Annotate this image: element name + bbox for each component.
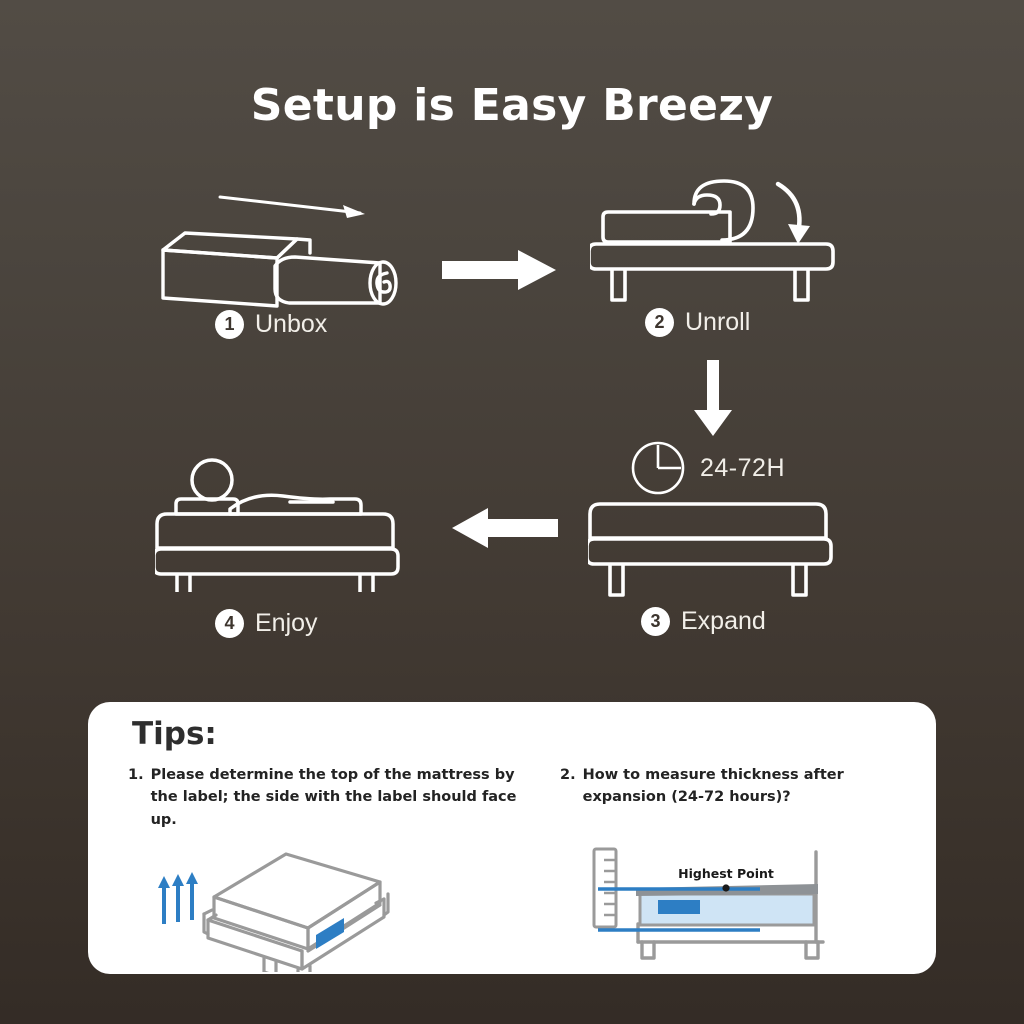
up-arrows-icon bbox=[158, 872, 198, 924]
step-1-caption: 1 Unbox bbox=[215, 310, 327, 339]
highest-point-label: Highest Point bbox=[678, 866, 774, 881]
tip-2-body: How to measure thickness after expansion… bbox=[583, 764, 932, 809]
mattress-label-tag bbox=[658, 900, 700, 914]
step-2-badge: 2 bbox=[645, 308, 674, 337]
step-2-unroll: 2 Unroll bbox=[590, 178, 850, 310]
box-with-rolled-mattress-icon bbox=[155, 185, 425, 310]
step-4-enjoy: 4 Enjoy bbox=[155, 452, 415, 592]
page-title: Setup is Easy Breezy bbox=[0, 80, 1024, 131]
tip-2-text-row: 2. How to measure thickness after expans… bbox=[560, 764, 932, 809]
step-2-label: Unroll bbox=[685, 308, 750, 337]
arrow-right-icon bbox=[440, 248, 560, 292]
tip-1-body: Please determine the top of the mattress… bbox=[151, 764, 518, 831]
step-4-caption: 4 Enjoy bbox=[215, 609, 318, 638]
tip-2: 2. How to measure thickness after expans… bbox=[560, 764, 932, 809]
step-4-label: Enjoy bbox=[255, 609, 318, 638]
arrow-left-icon bbox=[450, 506, 560, 550]
tip-2-number: 2. bbox=[560, 764, 576, 809]
step-3-expand: 24-72H 3 Expand bbox=[588, 440, 848, 590]
step-3-caption: 3 Expand bbox=[641, 607, 766, 636]
step-1-label: Unbox bbox=[255, 310, 327, 339]
isometric-mattress-on-frame-illustration bbox=[148, 842, 408, 972]
clock-icon bbox=[630, 440, 686, 496]
step-3-badge: 3 bbox=[641, 607, 670, 636]
step-1-unbox: 1 Unbox bbox=[155, 185, 425, 310]
arrow-down-icon bbox=[690, 358, 736, 438]
expand-timer-text: 24-72H bbox=[700, 454, 785, 483]
tips-heading: Tips: bbox=[132, 716, 217, 752]
side-view-mattress-with-ruler-illustration: Highest Point bbox=[578, 846, 878, 966]
infographic-root: Setup is Easy Breezy 1 bbox=[0, 0, 1024, 1024]
tips-card: Tips: 1. Please determine the top of the… bbox=[88, 702, 936, 974]
mattress-unrolling-on-bed-icon bbox=[590, 178, 850, 310]
tip-1: 1. Please determine the top of the mattr… bbox=[128, 764, 518, 831]
step-3-label: Expand bbox=[681, 607, 766, 636]
step-4-badge: 4 bbox=[215, 609, 244, 638]
highest-point-dot bbox=[722, 884, 729, 891]
person-sleeping-on-bed-icon bbox=[155, 452, 415, 592]
step-1-badge: 1 bbox=[215, 310, 244, 339]
tip-1-text-row: 1. Please determine the top of the mattr… bbox=[128, 764, 518, 831]
expand-timer: 24-72H bbox=[630, 440, 785, 496]
flat-mattress-on-bed-icon bbox=[588, 502, 848, 597]
step-2-caption: 2 Unroll bbox=[645, 308, 750, 337]
tip-1-number: 1. bbox=[128, 764, 144, 831]
